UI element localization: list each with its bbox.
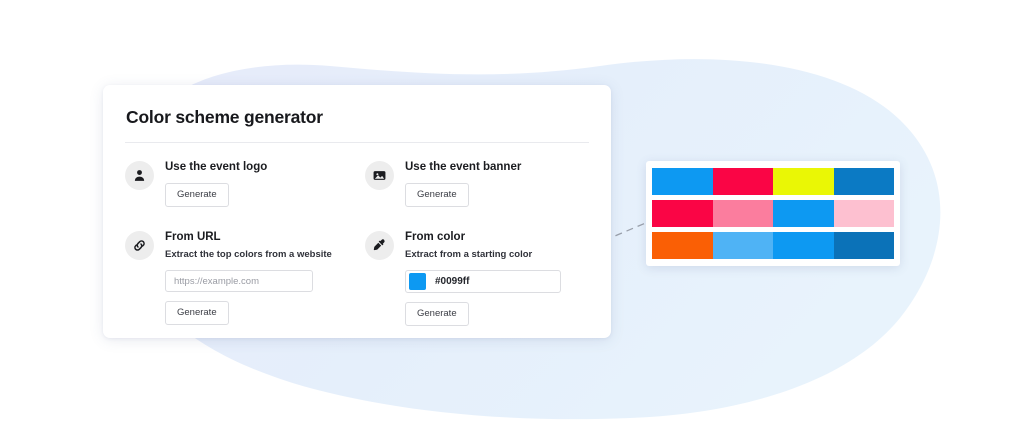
color-hex-value: #0099ff bbox=[435, 276, 469, 287]
option-body: From URL Extract the top colors from a w… bbox=[165, 229, 332, 325]
option-body: From color Extract from a starting color… bbox=[405, 229, 561, 326]
url-input[interactable]: https://example.com bbox=[165, 270, 313, 292]
option-use-event-banner: Use the event banner Generate bbox=[365, 159, 605, 207]
palette-swatch[interactable] bbox=[834, 232, 895, 259]
palette-swatch[interactable] bbox=[834, 168, 895, 195]
color-scheme-generator-card: Color scheme generator Use the event log… bbox=[103, 85, 611, 338]
option-title: From URL bbox=[165, 230, 332, 244]
option-title: Use the event banner bbox=[405, 160, 521, 174]
eyedropper-icon bbox=[365, 231, 394, 260]
palette-swatch[interactable] bbox=[652, 200, 713, 227]
palette-row bbox=[652, 232, 894, 259]
palette-swatch[interactable] bbox=[713, 200, 774, 227]
palette-swatch[interactable] bbox=[652, 232, 713, 259]
palette-swatch[interactable] bbox=[773, 232, 834, 259]
title-divider bbox=[125, 142, 589, 143]
option-subtitle: Extract the top colors from a website bbox=[165, 249, 332, 261]
palette-swatch[interactable] bbox=[652, 168, 713, 195]
person-icon bbox=[125, 161, 154, 190]
palette-row bbox=[652, 200, 894, 227]
option-from-color: From color Extract from a starting color… bbox=[365, 229, 605, 326]
color-input-field[interactable]: #0099ff bbox=[405, 270, 561, 293]
palette-swatch[interactable] bbox=[713, 168, 774, 195]
option-body: Use the event banner Generate bbox=[405, 159, 521, 207]
option-subtitle: Extract from a starting color bbox=[405, 249, 561, 261]
image-icon bbox=[365, 161, 394, 190]
palette-swatch[interactable] bbox=[773, 200, 834, 227]
generate-button-logo[interactable]: Generate bbox=[165, 183, 229, 207]
page-title: Color scheme generator bbox=[126, 107, 589, 128]
link-icon bbox=[125, 231, 154, 260]
generate-button-color[interactable]: Generate bbox=[405, 302, 469, 326]
option-body: Use the event logo Generate bbox=[165, 159, 267, 207]
palette-swatch[interactable] bbox=[713, 232, 774, 259]
options-grid: Use the event logo Generate Use the even… bbox=[125, 159, 589, 326]
option-from-url: From URL Extract the top colors from a w… bbox=[125, 229, 365, 326]
generate-button-banner[interactable]: Generate bbox=[405, 183, 469, 207]
palette-swatch[interactable] bbox=[834, 200, 895, 227]
color-swatch[interactable] bbox=[409, 273, 426, 290]
option-use-event-logo: Use the event logo Generate bbox=[125, 159, 365, 207]
generate-button-url[interactable]: Generate bbox=[165, 301, 229, 325]
palette-swatch[interactable] bbox=[773, 168, 834, 195]
option-title: From color bbox=[405, 230, 561, 244]
palette-row bbox=[652, 168, 894, 195]
option-title: Use the event logo bbox=[165, 160, 267, 174]
generated-palette-panel bbox=[646, 161, 900, 266]
